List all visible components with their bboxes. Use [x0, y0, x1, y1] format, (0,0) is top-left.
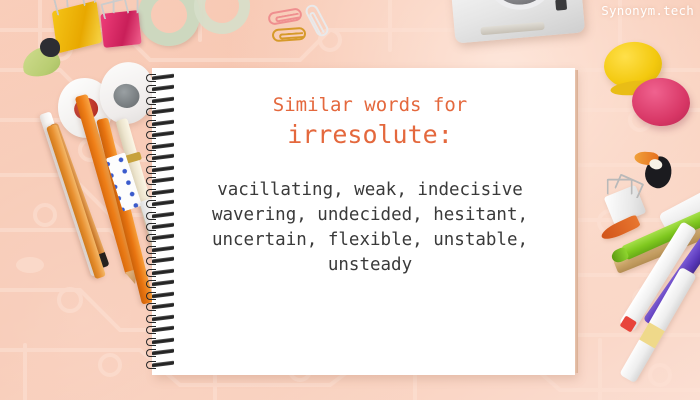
- spiral-coil: [146, 200, 176, 206]
- spiral-coil: [146, 166, 176, 172]
- spiral-coil-bar: [152, 108, 174, 114]
- spiral-coil: [146, 177, 176, 183]
- spiral-coil: [146, 292, 176, 298]
- spiral-coil: [146, 74, 176, 80]
- screenshot-root: Similar words for irresolute: vacillatin…: [0, 0, 700, 400]
- spiral-coil: [146, 280, 176, 286]
- spiral-coil: [146, 85, 176, 91]
- page-title: irresolute:: [180, 118, 560, 152]
- spiral-coil-bar: [152, 85, 174, 91]
- spiral-coil: [146, 120, 176, 126]
- spiral-coil: [146, 234, 176, 240]
- notepad-text-block: Similar words for irresolute: vacillatin…: [180, 92, 560, 278]
- bird-head: [40, 38, 60, 57]
- camera-grip: [480, 22, 544, 36]
- spiral-coil: [146, 246, 176, 252]
- spiral-coil-bar: [152, 280, 174, 286]
- spiral-coil-bar: [152, 131, 174, 137]
- binder-clip-pink: [100, 10, 141, 48]
- paper-clip-gold: [272, 27, 307, 42]
- spiral-coil: [146, 315, 176, 321]
- synonym-line: vacillating, weak, indecisive: [180, 178, 560, 203]
- spiral-coil: [146, 361, 176, 367]
- spiral-coil: [146, 131, 176, 137]
- spiral-coil: [146, 303, 176, 309]
- spiral-coil: [146, 269, 176, 275]
- synonym-list: vacillating, weak, indecisive wavering, …: [180, 178, 560, 278]
- spiral-coil: [146, 143, 176, 149]
- synonym-line: unsteady: [180, 253, 560, 278]
- spiral-coil: [146, 326, 176, 332]
- spiral-coil: [146, 189, 176, 195]
- spiral-coil: [146, 108, 176, 114]
- spiral-coil-bar: [152, 257, 174, 263]
- spiral-coil-bar: [152, 234, 174, 240]
- heading-prefix: Similar words for: [180, 92, 560, 118]
- bird-eraser-green: [22, 40, 64, 76]
- camera-button: [555, 0, 567, 11]
- synonym-line: wavering, undecided, hesitant,: [180, 203, 560, 228]
- spiral-coil: [146, 223, 176, 229]
- spiral-binding: [146, 74, 180, 372]
- camera-lens: [481, 0, 559, 13]
- spiral-coil: [146, 338, 176, 344]
- notepad-page-edge: [575, 70, 578, 373]
- spiral-coil: [146, 349, 176, 355]
- spiral-coil: [146, 212, 176, 218]
- synonym-line: uncertain, flexible, unstable,: [180, 228, 560, 253]
- spiral-coil: [146, 257, 176, 263]
- spiral-coil: [146, 97, 176, 103]
- spiral-coil: [146, 154, 176, 160]
- site-logo[interactable]: Synonym.tech: [601, 3, 694, 19]
